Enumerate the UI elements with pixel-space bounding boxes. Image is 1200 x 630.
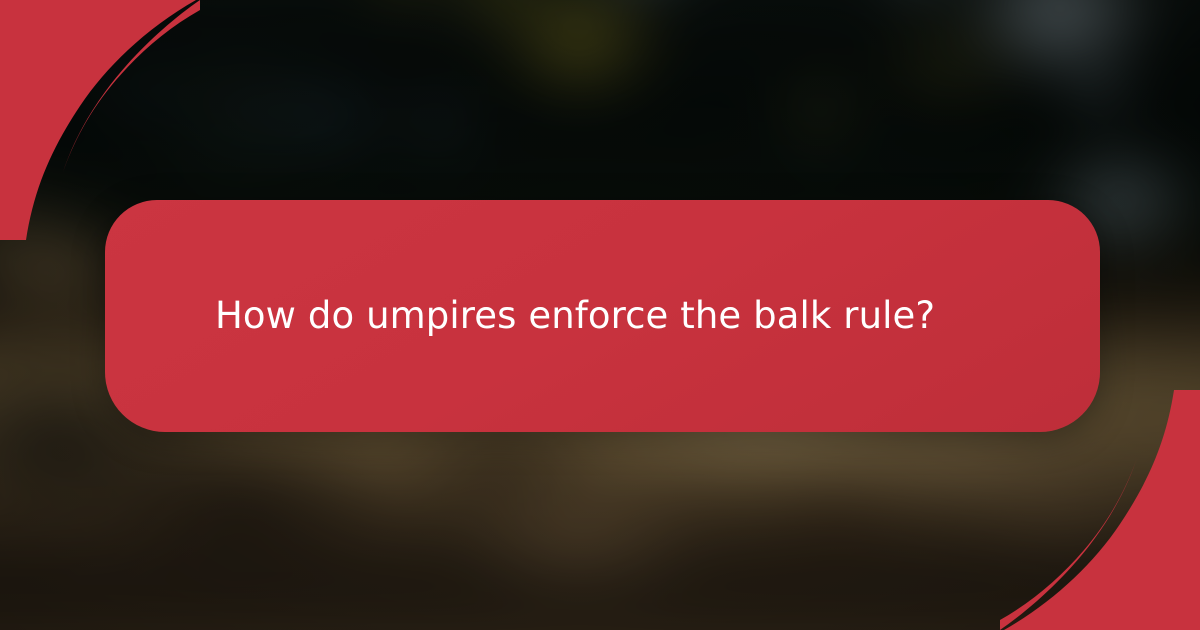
share-image-canvas: How do umpires enforce the balk rule?: [0, 0, 1200, 630]
question-card[interactable]: How do umpires enforce the balk rule?: [105, 200, 1100, 432]
question-title: How do umpires enforce the balk rule?: [215, 293, 935, 339]
